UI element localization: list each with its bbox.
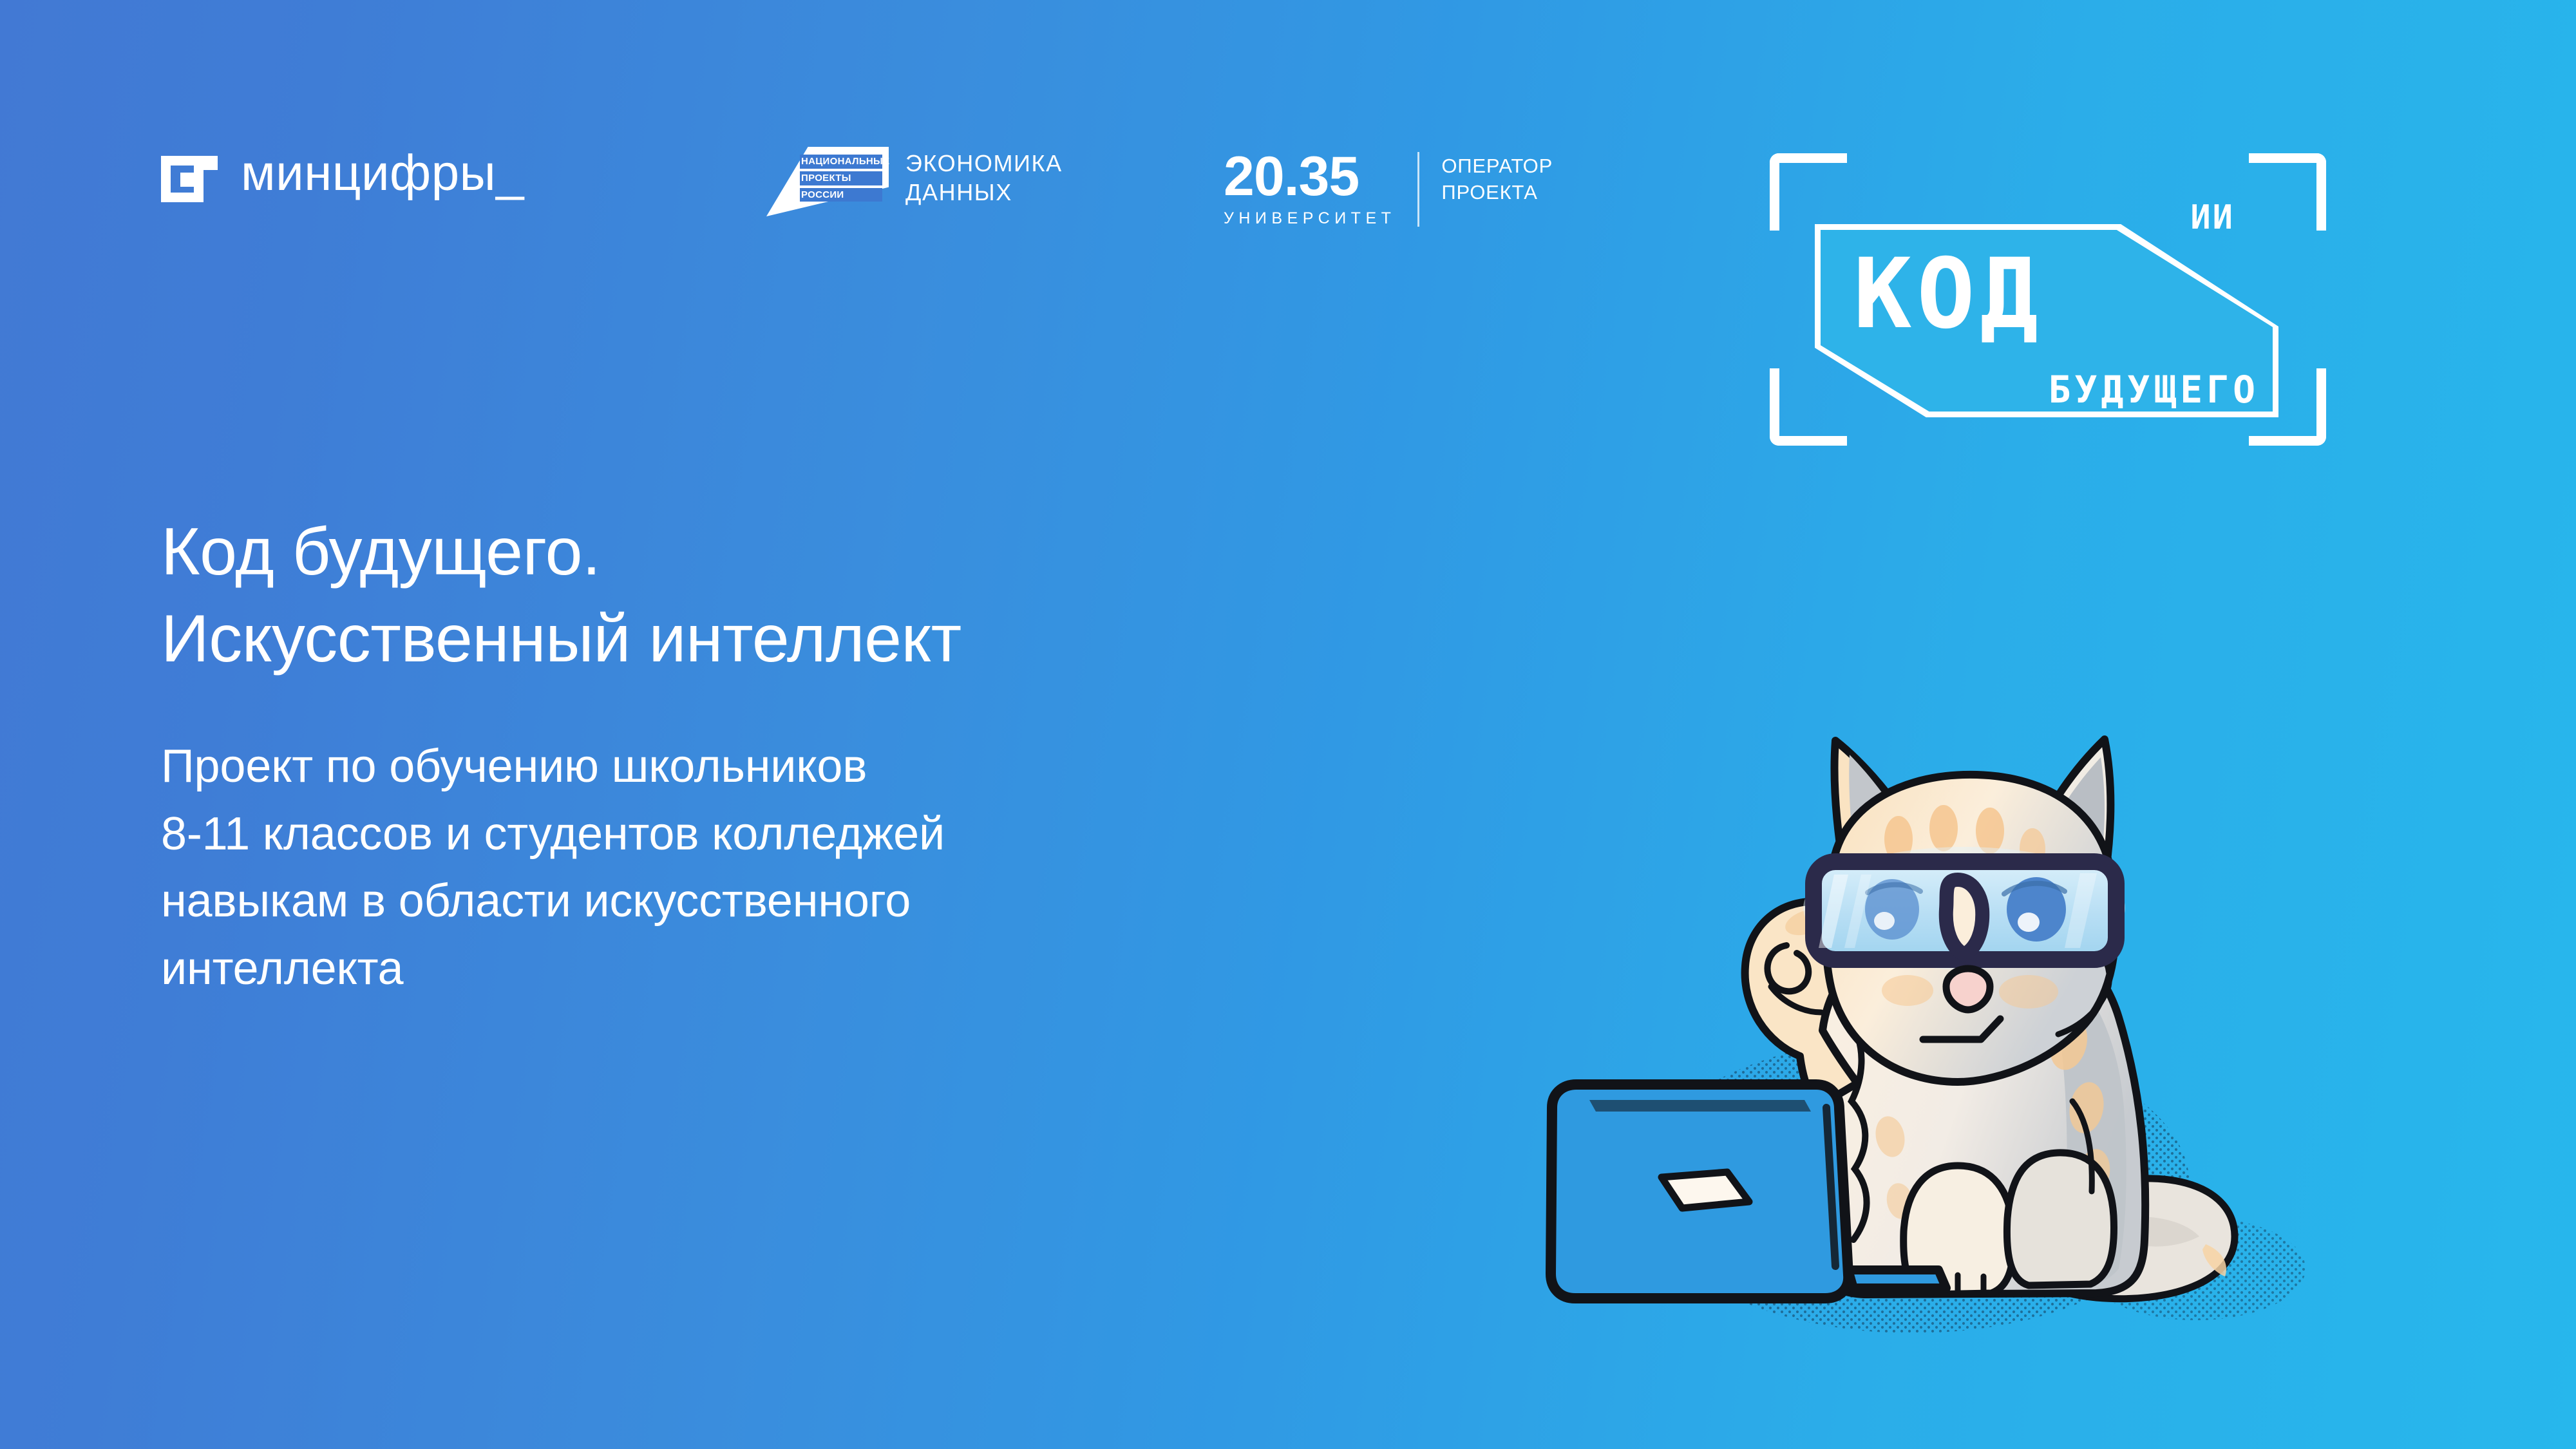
mincifry-dot-square [204, 156, 218, 170]
corner-bracket-top-left-icon [1770, 153, 1847, 231]
cat-mascot-illustration [1513, 657, 2351, 1340]
role-line-2: ПРОЕКТА [1441, 180, 1553, 206]
lede-line-3: навыкам в области искусственного [161, 867, 1481, 934]
national-projects-flag-icon: НАЦИОНАЛЬНЫЕ ПРОЕКТЫ РОССИИ [766, 147, 889, 216]
mincifry-arm [194, 164, 204, 202]
kod-budushchego-logo[interactable]: КОД БУДУЩЕГО ИИ [1765, 148, 2331, 451]
promo-banner: минцифры_ НАЦИОНАЛЬНЫЕ ПРОЕКТЫ РОССИИ ЭК… [0, 0, 2576, 1449]
lede-line-4: интеллекта [161, 935, 1481, 1002]
vertical-divider [1417, 152, 1419, 227]
mincifry-mark-icon [161, 143, 218, 202]
page-title: Код будущего. Искусственный интеллект [161, 509, 1481, 683]
page-description: Проект по обучению школьников 8-11 класс… [161, 733, 1481, 1002]
lede-line-1: Проект по обучению школьников [161, 733, 1481, 800]
kod-word-secondary: БУДУЩЕГО [2049, 371, 2259, 408]
kod-word-main: КОД [1853, 246, 2043, 343]
university-2035-mark: 20.35 УНИВЕРСИТЕТ [1224, 149, 1396, 229]
mincifry-logo[interactable]: минцифры_ [161, 143, 524, 202]
copy-block: Код будущего. Искусственный интеллект Пр… [161, 509, 1481, 1002]
university-2035-subtitle: УНИВЕРСИТЕТ [1224, 204, 1396, 229]
flag-line-2: ПРОЕКТЫ [800, 171, 882, 185]
cat-mascot-svg [1513, 657, 2351, 1340]
national-projects-logo[interactable]: НАЦИОНАЛЬНЫЕ ПРОЕКТЫ РОССИИ ЭКОНОМИКА ДА… [766, 147, 1063, 216]
university-2035-number: 20.35 [1224, 149, 1396, 204]
mincifry-inner-square [180, 173, 194, 187]
kod-plate: КОД БУДУЩЕГО [1815, 224, 2278, 417]
headline-line-1: Код будущего. [161, 509, 1481, 596]
ai-badge: ИИ [2190, 201, 2235, 234]
lede-line-2: 8-11 классов и студентов колледжей [161, 800, 1481, 867]
mincifry-wordmark: минцифры_ [241, 147, 524, 198]
corner-bracket-top-right-icon [2249, 153, 2326, 231]
project-operator-role: ОПЕРАТОР ПРОЕКТА [1441, 149, 1553, 229]
vr-goggles-icon [1814, 862, 2116, 960]
program-line-2: ДАННЫХ [905, 178, 1063, 207]
headline-line-2: Искусственный интеллект [161, 596, 1481, 683]
university-2035-logo[interactable]: 20.35 УНИВЕРСИТЕТ ОПЕРАТОР ПРОЕКТА [1224, 149, 1553, 229]
flag-line-1: НАЦИОНАЛЬНЫЕ [800, 155, 882, 169]
flag-text-stack: НАЦИОНАЛЬНЫЕ ПРОЕКТЫ РОССИИ [800, 155, 882, 202]
cat-head [1803, 739, 2125, 1082]
flag-line-3: РОССИИ [800, 188, 882, 202]
program-line-1: ЭКОНОМИКА [905, 149, 1063, 178]
role-line-1: ОПЕРАТОР [1441, 153, 1553, 180]
partner-logo-bar: минцифры_ НАЦИОНАЛЬНЫЕ ПРОЕКТЫ РОССИИ ЭК… [0, 0, 2576, 451]
program-name: ЭКОНОМИКА ДАННЫХ [905, 147, 1063, 207]
